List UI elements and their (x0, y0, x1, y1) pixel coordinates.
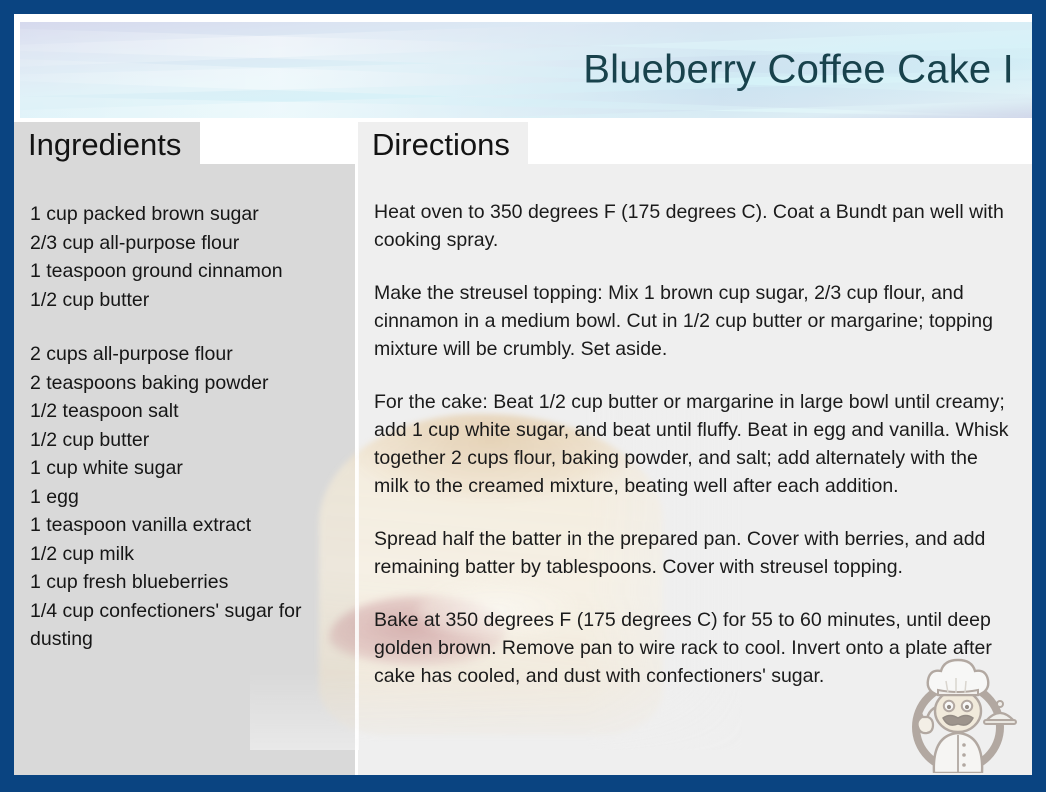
list-item: 1 cup packed brown sugar (30, 200, 339, 229)
list-item: 1 cup white sugar (30, 454, 339, 483)
recipe-page: Blueberry Coffee Cake I Ingredients 1 cu… (14, 14, 1032, 775)
direction-step: For the cake: Beat 1/2 cup butter or mar… (374, 388, 1016, 500)
ingredients-heading: Ingredients (14, 122, 200, 167)
list-separator (30, 314, 339, 340)
list-item: 1/2 teaspoon salt (30, 397, 339, 426)
directions-heading: Directions (358, 122, 528, 167)
chef-logo (898, 655, 1018, 773)
ingredients-panel: 1 cup packed brown sugar 2/3 cup all-pur… (14, 164, 355, 775)
list-item: 1 egg (30, 483, 339, 512)
list-item: 1 cup fresh blueberries (30, 568, 339, 597)
direction-step: Make the streusel topping: Mix 1 brown c… (374, 279, 1016, 363)
direction-step: Heat oven to 350 degrees F (175 degrees … (374, 198, 1016, 254)
list-item: 1 teaspoon ground cinnamon (30, 257, 339, 286)
list-item: 1/2 cup milk (30, 540, 339, 569)
recipe-card: Blueberry Coffee Cake I Ingredients 1 cu… (0, 0, 1046, 792)
list-item: 1/2 cup butter (30, 426, 339, 455)
list-item: 1/2 cup butter (30, 286, 339, 315)
list-item: 1 teaspoon vanilla extract (30, 511, 339, 540)
list-item: 1/4 cup confectioners' sugar for dusting (30, 597, 339, 654)
directions-steps: Heat oven to 350 degrees F (175 degrees … (358, 164, 1032, 690)
direction-step: Spread half the batter in the prepared p… (374, 525, 1016, 581)
list-item: 2 cups all-purpose flour (30, 340, 339, 369)
title-banner: Blueberry Coffee Cake I (20, 22, 1032, 118)
list-item: 2/3 cup all-purpose flour (30, 229, 339, 258)
recipe-title: Blueberry Coffee Cake I (583, 48, 1014, 93)
ingredients-list: 1 cup packed brown sugar 2/3 cup all-pur… (14, 164, 355, 654)
list-item: 2 teaspoons baking powder (30, 369, 339, 398)
